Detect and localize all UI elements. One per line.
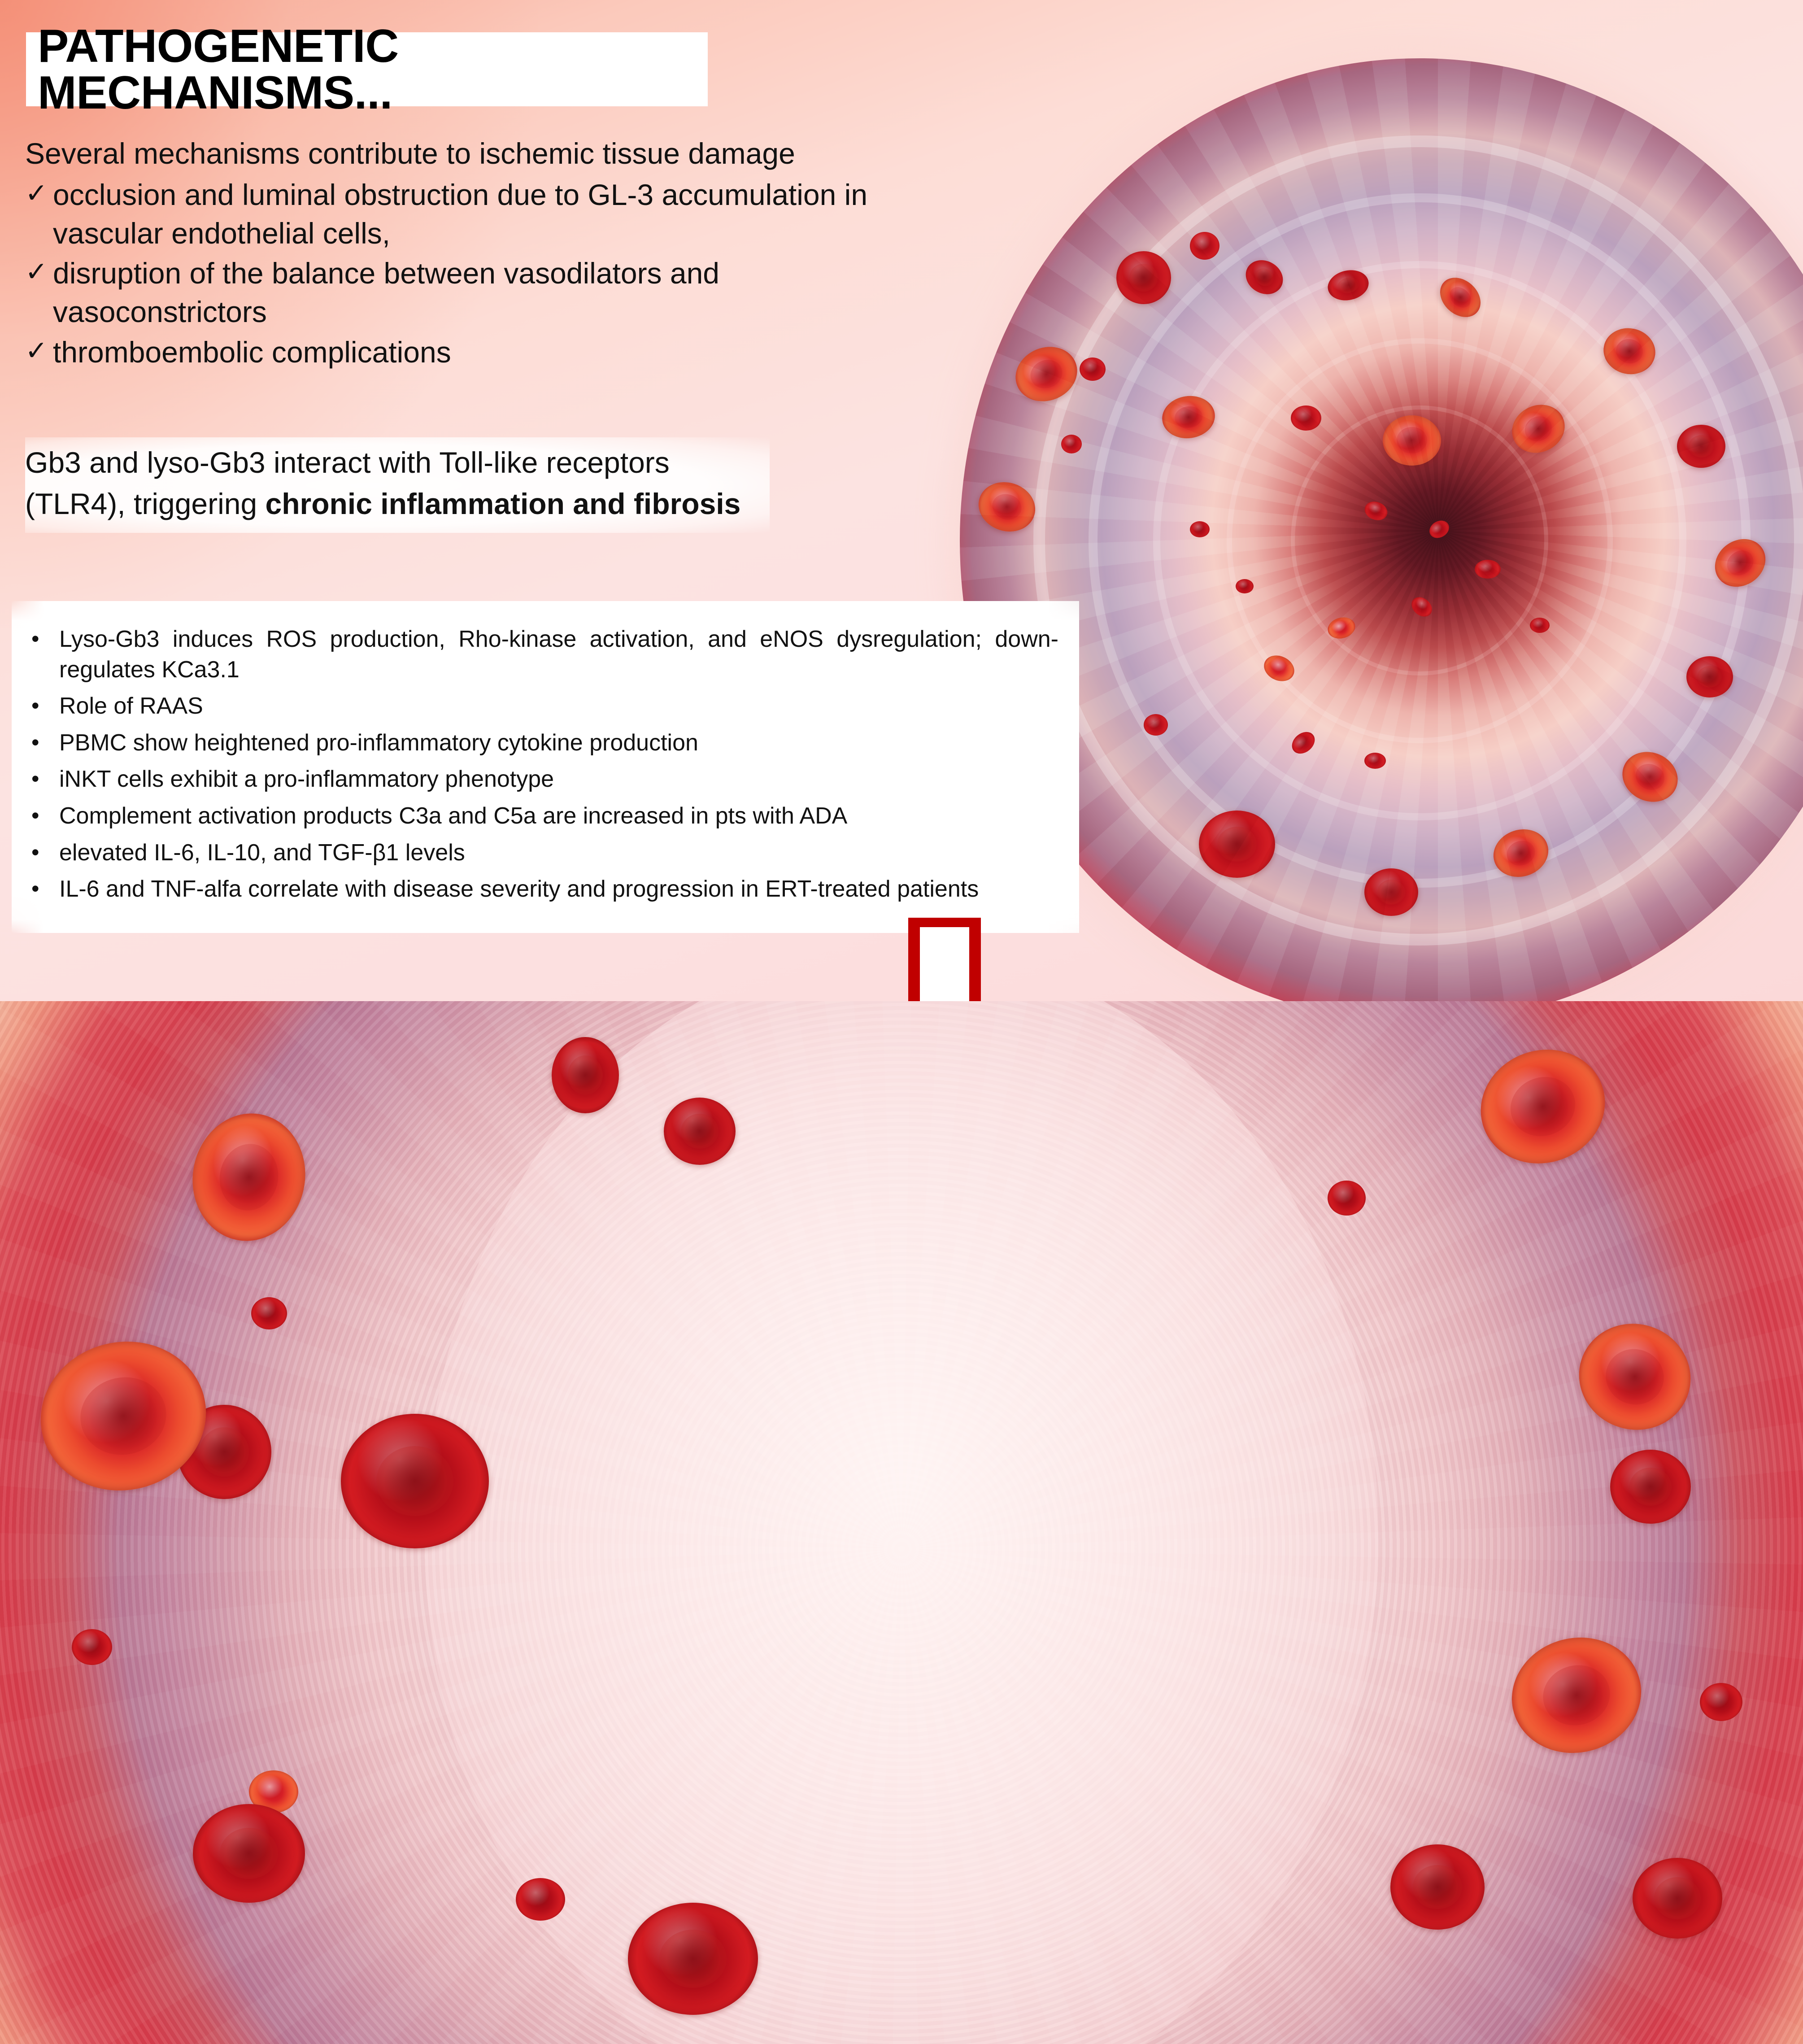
red-blood-cell [1190,232,1219,260]
page-title-box: PATHOGENETIC MECHANISMS... [26,32,708,106]
red-blood-cell [251,1297,287,1329]
tlr4-paragraph: Gb3 and lyso-Gb3 interact with Toll-like… [25,437,770,533]
red-blood-cell [1614,743,1685,811]
mechanism-list-item-label: Complement activation products C3a and C… [59,801,1058,832]
down-arrow-icon [873,918,1016,1001]
mechanism-list-item-label: elevated IL-6, IL-10, and TGF-β1 levels [59,838,1058,868]
mechanism-list-item: •Lyso-Gb3 induces ROS production, Rho-ki… [31,624,1058,685]
red-blood-cell [72,1629,112,1665]
red-blood-cell [1504,397,1573,462]
red-blood-cell [1199,811,1275,878]
mechanism-list-item: •Role of RAAS [31,691,1058,722]
red-blood-cell [1159,392,1218,442]
intro-mechanisms-block: Several mechanisms contribute to ischemi… [25,135,922,374]
red-blood-cell [1432,270,1488,325]
red-blood-cell [1236,579,1254,593]
mechanism-list-item: •iNKT cells exhibit a pro-inflammatory p… [31,764,1058,795]
red-blood-cell [1362,498,1390,523]
tlr4-paragraph-bold: chronic inflammation and fibrosis [266,487,741,520]
red-blood-cell [1686,656,1733,697]
mechanism-list-item-label: iNKT cells exhibit a pro-inflammatory ph… [59,764,1058,795]
blood-vessel-cross-section-illustration [960,58,1803,1001]
red-blood-cell [1700,1683,1742,1721]
red-blood-cell [1487,822,1555,884]
bullet-icon: • [31,874,59,903]
red-blood-cell [1007,338,1085,410]
bullet-icon: • [31,764,59,793]
mechanism-list-item: •IL-6 and TNF-alfa correlate with diseas… [31,874,1058,905]
red-blood-cell [552,1037,619,1113]
red-blood-cell [1677,425,1725,468]
red-blood-cell [1259,651,1298,686]
checkmark-icon: ✓ [25,333,53,368]
red-blood-cell [1610,1450,1691,1524]
bullet-icon: • [31,728,59,757]
red-blood-cell [1080,357,1106,381]
red-blood-cell [1288,728,1319,758]
mechanism-list-item-label: Role of RAAS [59,691,1058,722]
checkmark-icon: ✓ [25,254,53,289]
red-blood-cell [1144,714,1168,736]
check-list-item-label: occlusion and luminal obstruction due to… [53,176,922,253]
mechanism-list-item: •Complement activation products C3a and … [31,801,1058,832]
check-list-item: ✓thromboembolic complications [25,333,922,372]
red-blood-cell [1633,1858,1722,1939]
red-blood-cell [341,1414,489,1548]
red-blood-cell [972,475,1041,539]
red-blood-cell [1325,266,1372,304]
red-blood-cell [1364,753,1386,769]
mechanisms-list: •Lyso-Gb3 induces ROS production, Rho-ki… [31,624,1058,911]
red-blood-cell [1599,323,1660,379]
mechanism-list-item-label: Lyso-Gb3 induces ROS production, Rho-kin… [59,624,1058,685]
mechanism-list-item: •elevated IL-6, IL-10, and TGF-β1 levels [31,838,1058,868]
check-list-item-label: disruption of the balance between vasodi… [53,254,922,331]
red-blood-cell [1530,618,1550,633]
bullet-icon: • [31,624,59,654]
bottom-panel-biomarkers: ...AND BIOMARKERS C-reactive proteinProt… [0,1001,1803,2044]
red-blood-cell [1116,251,1171,304]
red-blood-cell [1383,415,1441,466]
red-blood-cell [1239,253,1289,301]
red-blood-cell [1328,1181,1366,1216]
red-blood-cell [1291,405,1321,431]
bullet-icon: • [31,691,59,720]
mechanism-list-item-label: IL-6 and TNF-alfa correlate with disease… [59,874,1058,905]
red-blood-cell [1426,517,1452,541]
mechanism-list-item: •PBMC show heightened pro-inflammatory c… [31,728,1058,758]
intro-lead-text: Several mechanisms contribute to ischemi… [25,135,922,173]
red-blood-cell [1407,593,1436,620]
check-list-item-label: thromboembolic complications [53,333,922,372]
top-panel-pathogenetic-mechanisms: PATHOGENETIC MECHANISMS... Several mecha… [0,0,1803,1001]
red-blood-cell [1190,521,1210,537]
mechanism-list-item-label: PBMC show heightened pro-inflammatory cy… [59,728,1058,758]
red-blood-cell [516,1878,565,1921]
slide-root: PATHOGENETIC MECHANISMS... Several mecha… [0,0,1803,2044]
page-title: PATHOGENETIC MECHANISMS... [26,23,708,116]
check-list-item: ✓disruption of the balance between vasod… [25,254,922,331]
red-blood-cell [193,1804,305,1903]
red-blood-cell [664,1098,736,1165]
red-blood-cell [1706,529,1775,597]
red-blood-cell [1475,560,1501,579]
red-blood-cell [1364,868,1418,916]
red-blood-cell [628,1903,758,2015]
red-blood-cell [1325,615,1358,641]
check-list: ✓occlusion and luminal obstruction due t… [25,176,922,372]
red-blood-cell [1061,435,1082,453]
bullet-icon: • [31,838,59,867]
mechanisms-detail-panel: •Lyso-Gb3 induces ROS production, Rho-ki… [12,601,1079,933]
vessel-lumen-core [425,1001,1378,2044]
bullet-icon: • [31,801,59,830]
check-list-item: ✓occlusion and luminal obstruction due t… [25,176,922,253]
red-blood-cell [1390,1844,1485,1930]
checkmark-icon: ✓ [25,176,53,211]
